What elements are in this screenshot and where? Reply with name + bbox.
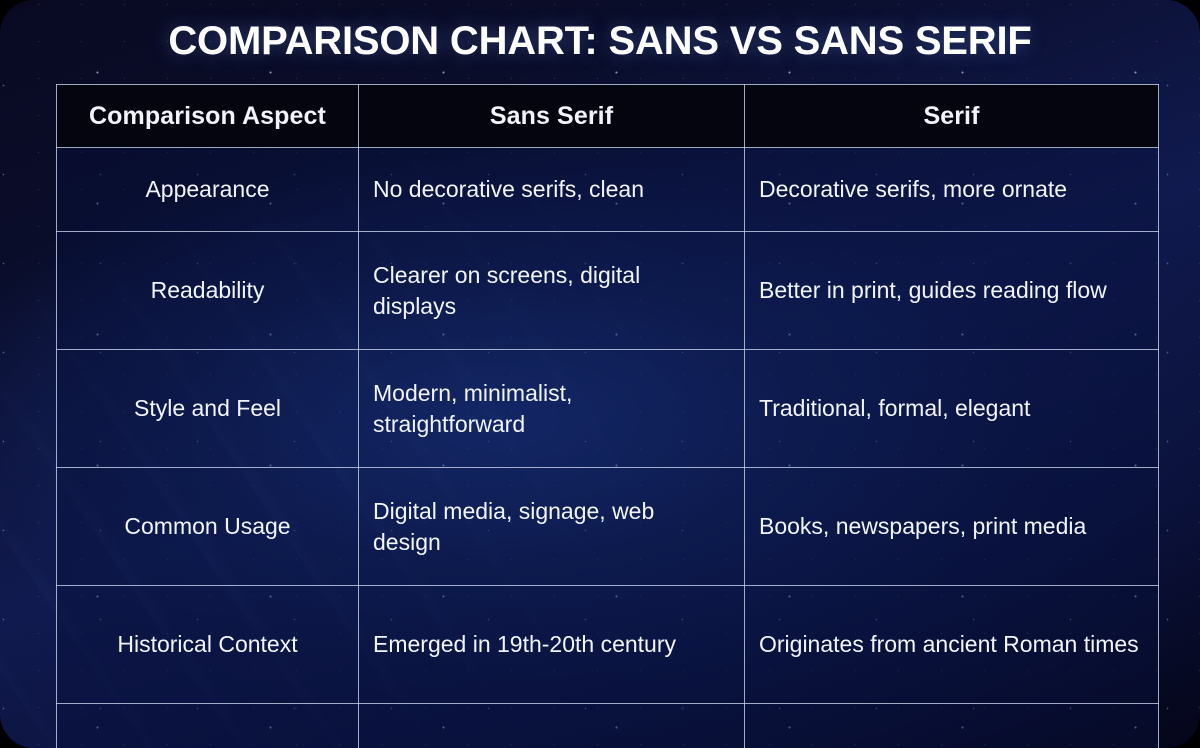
cell-serif: Better in print, guides reading flow <box>745 232 1159 350</box>
cell-serif: Traditional, formal, elegant <box>745 350 1159 468</box>
cell-sans-serif: Clearer on screens, digital displays <box>359 232 745 350</box>
cell-aspect: Readability <box>57 232 359 350</box>
column-header-serif: Serif <box>745 85 1159 148</box>
cell-serif: Books, newspapers, print media <box>745 468 1159 586</box>
cell-sans-serif: Modern, minimalist, straightforward <box>359 350 745 468</box>
column-header-sans-serif: Sans Serif <box>359 85 745 148</box>
cell-sans-serif: No decorative serifs, clean <box>359 148 745 232</box>
cell-aspect: Style and Feel <box>57 350 359 468</box>
cell-serif: Originates from ancient Roman times <box>745 586 1159 704</box>
table-row: Readability Clearer on screens, digital … <box>57 232 1159 350</box>
comparison-table-container: Comparison Aspect Sans Serif Serif Appea… <box>56 84 1158 718</box>
cell-serif: Less clear at small sizes, detailed <box>745 704 1159 748</box>
cell-serif: Decorative serifs, more ornate <box>745 148 1159 232</box>
cell-aspect: Appearance <box>57 148 359 232</box>
table-row: Appearance No decorative serifs, clean D… <box>57 148 1159 232</box>
table-header: Comparison Aspect Sans Serif Serif <box>57 85 1159 148</box>
comparison-table: Comparison Aspect Sans Serif Serif Appea… <box>56 84 1159 748</box>
cell-sans-serif: Digital media, signage, web design <box>359 468 745 586</box>
table-row: Historical Context Emerged in 19th-20th … <box>57 586 1159 704</box>
cell-aspect: Legibility in Small Sizes <box>57 704 359 748</box>
cell-sans-serif: Maintains clarity at small sizes <box>359 704 745 748</box>
table-header-row: Comparison Aspect Sans Serif Serif <box>57 85 1159 148</box>
cell-sans-serif: Emerged in 19th-20th century <box>359 586 745 704</box>
table-body: Appearance No decorative serifs, clean D… <box>57 148 1159 748</box>
cell-aspect: Common Usage <box>57 468 359 586</box>
table-row: Common Usage Digital media, signage, web… <box>57 468 1159 586</box>
column-header-aspect: Comparison Aspect <box>57 85 359 148</box>
poster-canvas: COMPARISON CHART: SANS VS SANS SERIF Com… <box>0 0 1200 748</box>
page-title: COMPARISON CHART: SANS VS SANS SERIF <box>0 14 1200 68</box>
cell-aspect: Historical Context <box>57 586 359 704</box>
table-row: Legibility in Small Sizes Maintains clar… <box>57 704 1159 748</box>
table-row: Style and Feel Modern, minimalist, strai… <box>57 350 1159 468</box>
